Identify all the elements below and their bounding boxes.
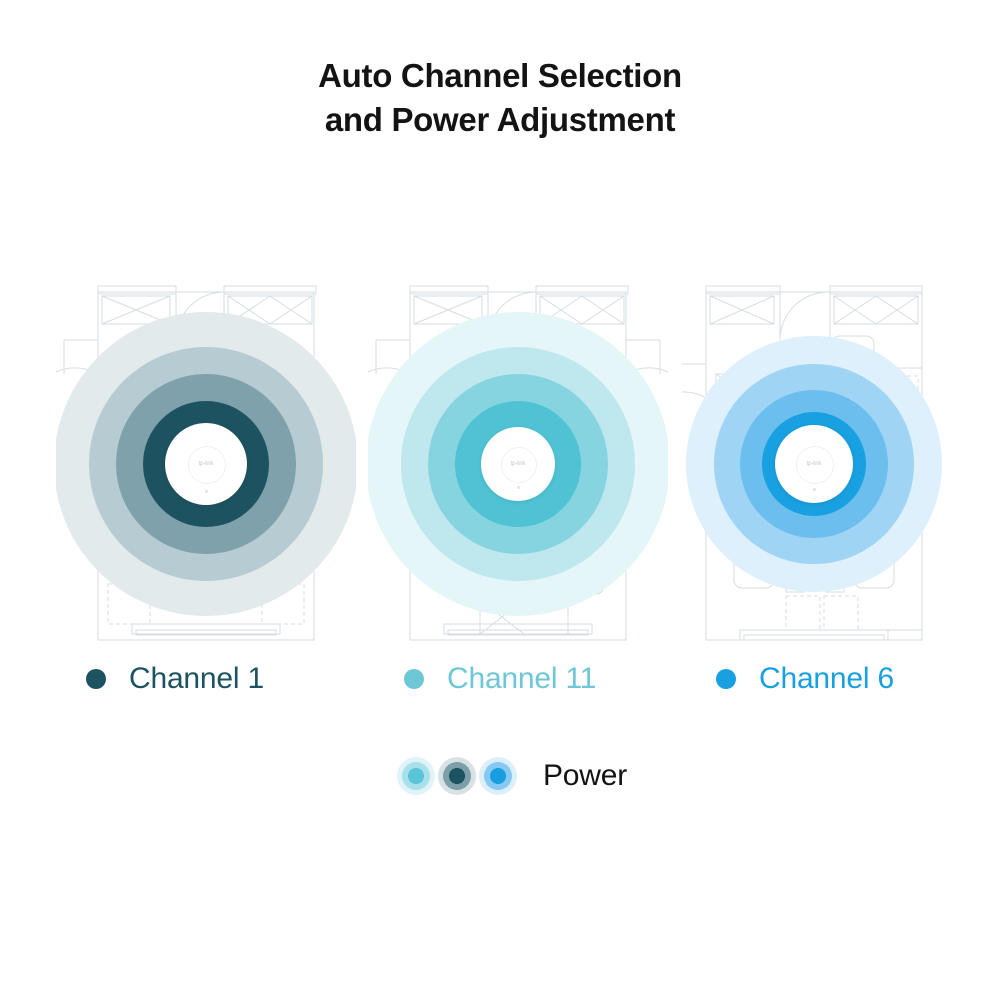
- page-title: Auto Channel Selection and Power Adjustm…: [0, 54, 1000, 142]
- power-dot-cyan-icon: [397, 757, 435, 795]
- channel-legend-row: Channel 1 Channel 11 Channel 6: [0, 655, 1000, 707]
- access-point-led: [813, 488, 816, 491]
- power-dot-teal-icon: [438, 757, 476, 795]
- legend-dot-icon-channel-6: [716, 669, 736, 689]
- page-title-line-2: and Power Adjustment: [0, 98, 1000, 142]
- panel-channel-6: tp-link: [682, 278, 982, 650]
- tp-link-logo: tp-link: [199, 461, 214, 467]
- panel-channel-11: tp-link: [368, 278, 668, 650]
- access-point-led: [517, 486, 520, 489]
- power-dot-group: [397, 757, 520, 795]
- power-dot-blue-icon: [479, 757, 517, 795]
- legend-label-channel-11: Channel 11: [447, 662, 596, 696]
- legend-dot-icon-channel-1: [86, 669, 106, 689]
- page-title-line-1: Auto Channel Selection: [0, 54, 1000, 98]
- legend-channel-1: Channel 1: [86, 655, 264, 703]
- access-point-led: [205, 490, 208, 493]
- tp-link-logo: tp-link: [511, 461, 526, 467]
- power-legend-label: Power: [543, 759, 627, 793]
- legend-channel-6: Channel 6: [716, 655, 894, 703]
- access-point-device-2[interactable]: tp-link: [481, 427, 555, 501]
- tp-link-logo: tp-link: [807, 461, 822, 467]
- legend-label-channel-6: Channel 6: [759, 662, 894, 696]
- power-legend: Power: [397, 752, 627, 800]
- legend-label-channel-1: Channel 1: [129, 662, 264, 696]
- legend-dot-icon-channel-11: [404, 669, 424, 689]
- access-point-device-1[interactable]: tp-link: [165, 423, 247, 505]
- access-point-device-3[interactable]: tp-link: [775, 425, 853, 503]
- floorplan-panels: tp-link: [0, 278, 1000, 650]
- legend-channel-11: Channel 11: [404, 655, 596, 703]
- panel-channel-1: tp-link: [56, 278, 356, 650]
